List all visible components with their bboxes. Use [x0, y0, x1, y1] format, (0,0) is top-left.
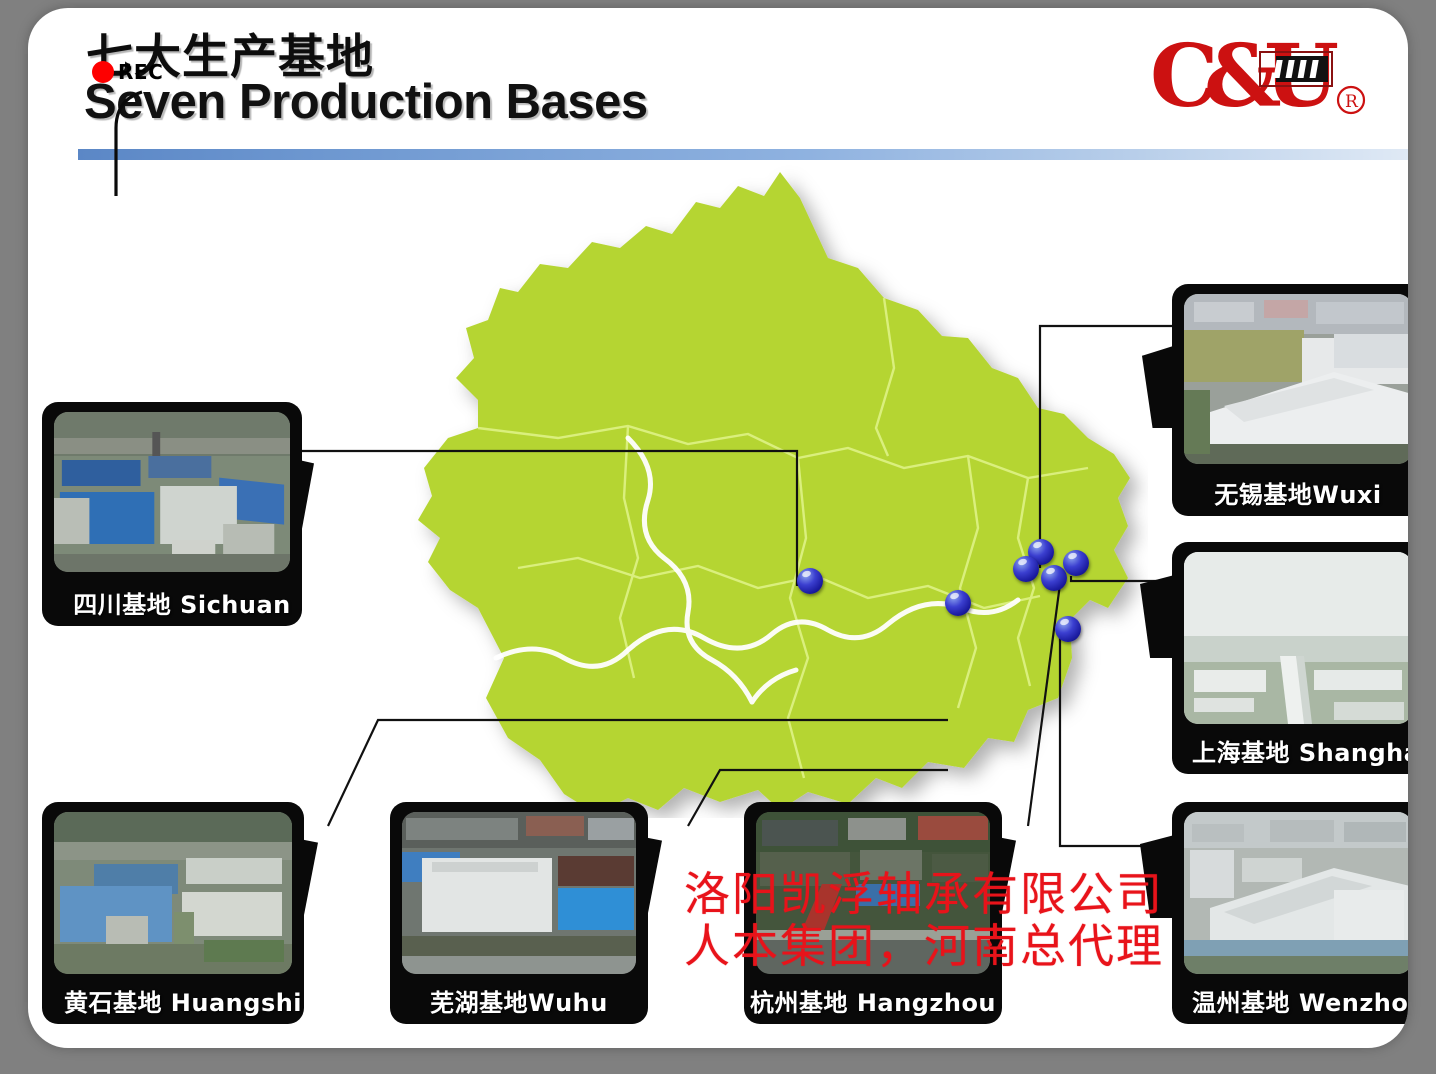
card-photo-sichuan [54, 412, 290, 572]
card-photo-wuhu [402, 812, 636, 974]
map-marker-wuhu[interactable] [1013, 556, 1039, 582]
base-card-wuhu[interactable]: 芜湖基地Wuhu [390, 802, 648, 1024]
base-card-shanghai[interactable]: 上海基地 Shanghai [1172, 542, 1408, 774]
base-caption-sichuan: 四川基地 Sichuan [42, 585, 302, 620]
map-marker-sichuan[interactable] [797, 568, 823, 594]
registered-trademark-icon: R [1338, 87, 1364, 113]
base-card-sichuan[interactable]: 四川基地 Sichuan [42, 402, 302, 626]
base-card-wenzhou[interactable]: 温州基地 Wenzhou [1172, 802, 1408, 1024]
china-map [328, 138, 1148, 818]
rec-dot-icon [92, 61, 114, 83]
svg-text:R: R [1345, 92, 1359, 112]
cu-logo: C & U R [1148, 30, 1378, 130]
map-marker-huangshi[interactable] [945, 590, 971, 616]
slide-canvas: 七大生产基地 Seven Production Bases REC C & U [0, 0, 1436, 1074]
base-caption-wenzhou: 温州基地 Wenzhou [1172, 983, 1408, 1018]
base-card-wuxi[interactable]: 无锡基地Wuxi [1172, 284, 1408, 516]
rec-label: REC [118, 60, 163, 84]
map-marker-wenzhou[interactable] [1055, 616, 1081, 642]
card-photo-wenzhou [1184, 812, 1408, 974]
watermark: 洛阳凯浮轴承有限公司 人本集团，河南总代理 [684, 868, 1164, 972]
page-title-english: Seven Production Bases [84, 74, 648, 130]
rec-indicator: REC [92, 60, 163, 84]
base-caption-wuhu: 芜湖基地Wuhu [390, 983, 648, 1018]
map-marker-shanghai[interactable] [1063, 550, 1089, 576]
base-caption-wuxi: 无锡基地Wuxi [1172, 475, 1408, 510]
base-caption-shanghai: 上海基地 Shanghai [1172, 733, 1408, 768]
card-photo-huangshi [54, 812, 292, 974]
base-caption-hangzhou: 杭州基地 Hangzhou [744, 983, 1002, 1018]
map-marker-hangzhou[interactable] [1041, 565, 1067, 591]
card-photo-wuxi [1184, 294, 1408, 464]
watermark-line-2: 人本集团，河南总代理 [684, 920, 1164, 972]
watermark-line-1: 洛阳凯浮轴承有限公司 [684, 868, 1164, 920]
card-photo-shanghai [1184, 552, 1408, 724]
base-caption-huangshi: 黄石基地 Huangshi [42, 983, 304, 1018]
base-card-huangshi[interactable]: 黄石基地 Huangshi [42, 802, 304, 1024]
